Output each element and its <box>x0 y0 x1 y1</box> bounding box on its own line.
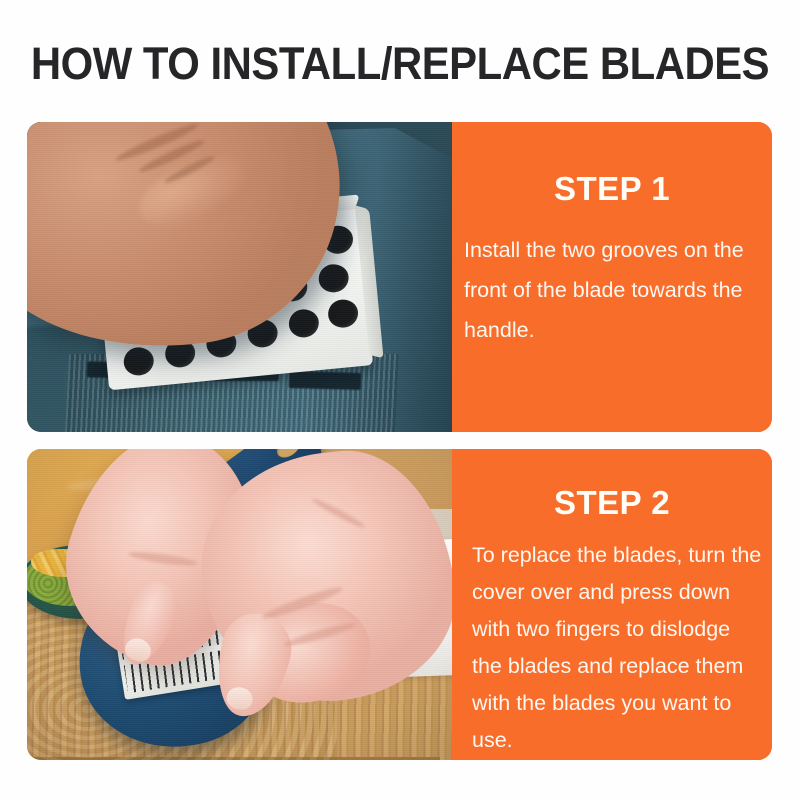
step-1-body: Install the two grooves on the front of … <box>464 230 764 350</box>
step-card-2: STEP 2 To replace the blades, turn the c… <box>27 449 772 760</box>
page-title: HOW TO INSTALL/REPLACE BLADES <box>28 38 772 90</box>
step-2-body: To replace the blades, turn the cover ov… <box>472 537 762 759</box>
step-1-text-pane: STEP 1 Install the two grooves on the fr… <box>452 122 772 432</box>
infographic-page: HOW TO INSTALL/REPLACE BLADES <box>0 0 800 800</box>
knuckle-highlight <box>130 143 263 240</box>
slicer-dark-bar-right <box>289 371 361 390</box>
blade-hole <box>317 263 350 294</box>
blade-hole <box>288 308 321 339</box>
step-card-1: STEP 1 Install the two grooves on the fr… <box>27 122 772 432</box>
blade-hole <box>327 298 360 329</box>
step-1-photo <box>27 122 452 432</box>
blade-hole <box>122 346 155 377</box>
photo-vignette <box>27 449 452 760</box>
step-1-heading: STEP 1 <box>452 170 772 208</box>
step-2-heading: STEP 2 <box>452 484 772 522</box>
step-2-text-pane: STEP 2 To replace the blades, turn the c… <box>452 449 772 760</box>
step-2-photo <box>27 449 452 760</box>
